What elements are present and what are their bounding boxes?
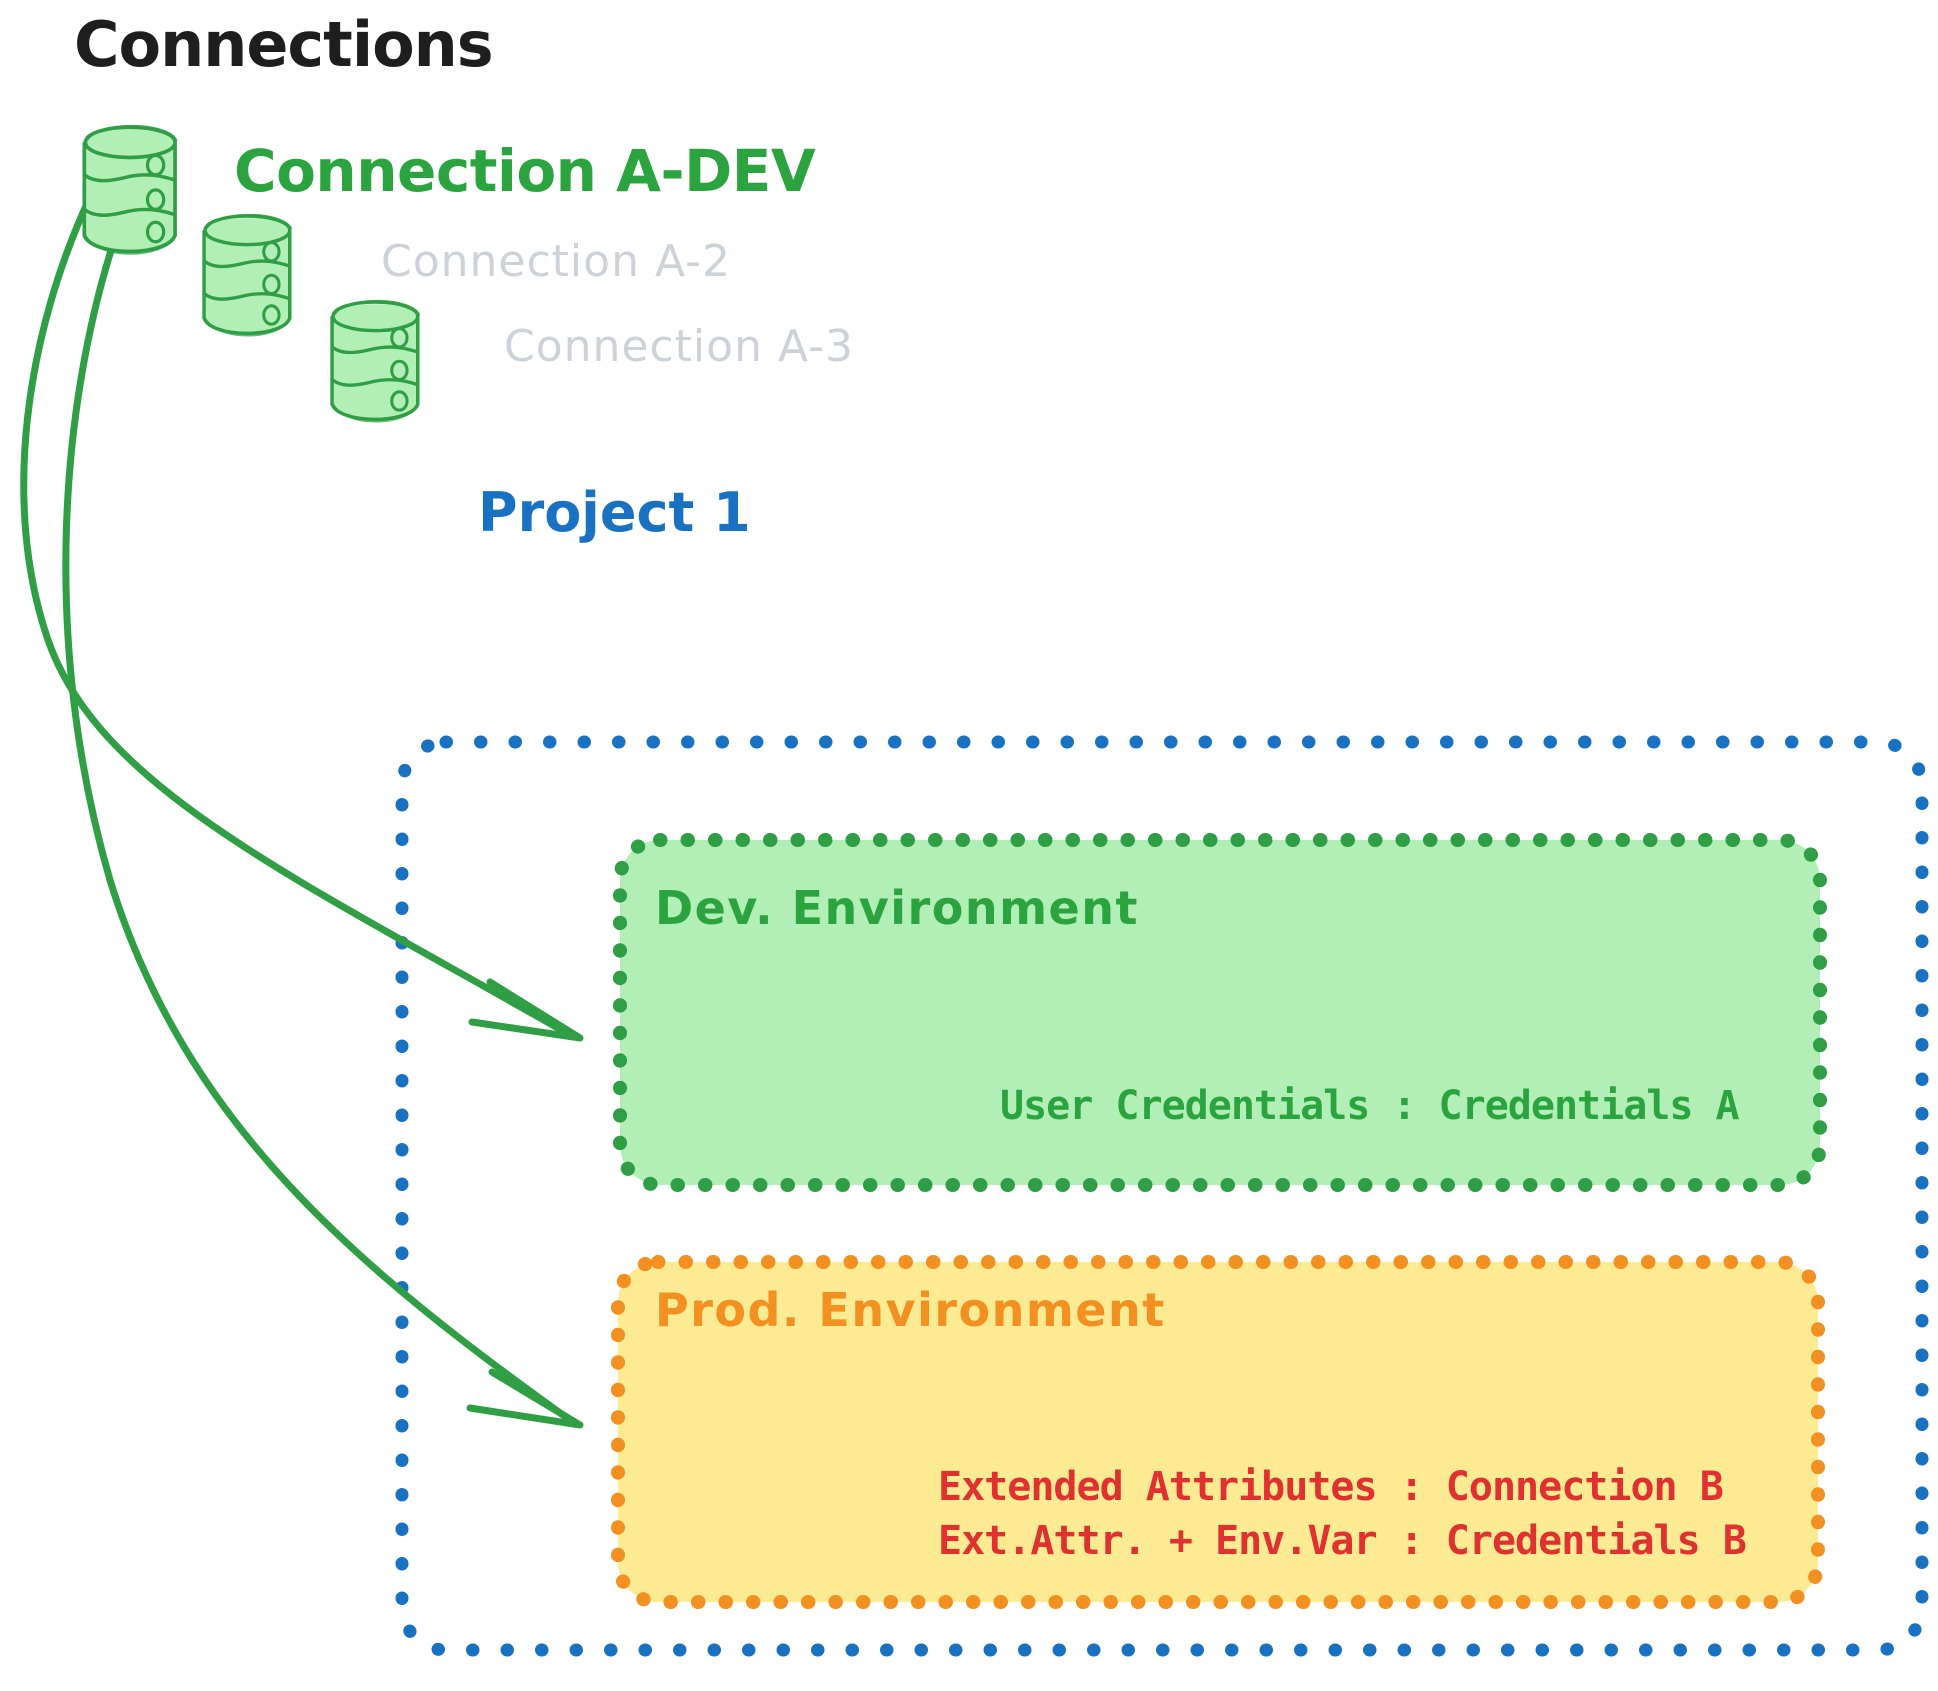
- connection-a-dev-cylinder[interactable]: [84, 126, 176, 253]
- connection-a-3-label[interactable]: Connection A-3: [504, 325, 854, 369]
- prod-environment-label: Prod. Environment: [655, 1287, 1166, 1333]
- page-title: Connections: [74, 14, 493, 76]
- prod-extended-attributes-row: Extended Attributes : Connection B: [938, 1467, 1723, 1507]
- arrow-to-dev-environment: [24, 197, 580, 1038]
- prod-ext-attr-env-var-row: Ext.Attr. + Env.Var : Credentials B: [938, 1521, 1746, 1561]
- dev-environment-label: Dev. Environment: [655, 885, 1139, 931]
- arrow-to-prod-environment: [66, 238, 580, 1425]
- connection-a-3-cylinder[interactable]: [332, 301, 419, 421]
- dev-user-credentials-row: User Credentials : Credentials A: [1000, 1086, 1739, 1126]
- connection-a-dev-label[interactable]: Connection A-DEV: [234, 142, 815, 200]
- project-label: Project 1: [478, 486, 751, 540]
- diagram-artwork: [0, 0, 1938, 1691]
- connection-a-2-label[interactable]: Connection A-2: [381, 240, 731, 284]
- connection-a-2-cylinder[interactable]: [204, 215, 291, 335]
- diagram-canvas: Connections Connection A-DEV Connection …: [0, 0, 1938, 1691]
